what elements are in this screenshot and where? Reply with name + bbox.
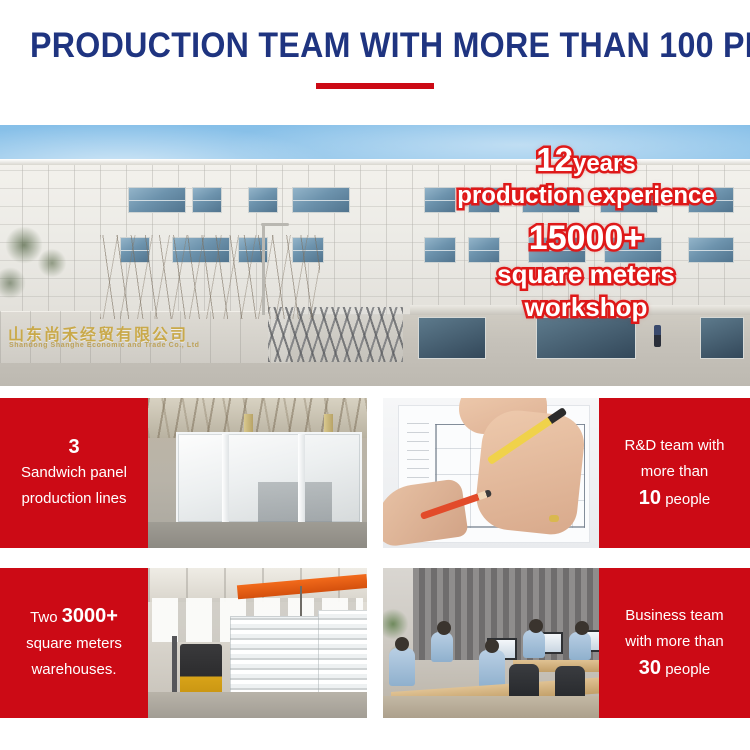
finger-ring: [549, 515, 559, 522]
hero-years-line: 12years: [436, 141, 736, 180]
card-3-number: 3000+: [62, 605, 118, 627]
hand-right: [473, 407, 587, 537]
card-3-photo-warehouse-panels: [148, 568, 367, 718]
window: [128, 187, 186, 213]
hero-area-unit: square meters: [436, 259, 736, 290]
hero-area-number: 15000+: [436, 218, 736, 258]
office-floor: [383, 696, 599, 718]
title-underline-accent: [316, 83, 434, 89]
card-3-line-2: warehouses.: [31, 657, 116, 683]
card-sandwich-panel-lines[interactable]: 3 Sandwich panel production lines: [0, 398, 367, 548]
card-2-text-panel: R&D team with more than 10 people: [599, 398, 750, 548]
card-4-number-suffix: people: [665, 661, 710, 678]
card-4-line-2: with more than: [625, 629, 723, 655]
card-2-line-2: more than: [641, 459, 709, 485]
person-at-entrance: [654, 325, 661, 347]
card-2-number-suffix: people: [665, 491, 710, 508]
card-1-text-panel: 3 Sandwich panel production lines: [0, 398, 148, 548]
page-title: PRODUCTION TEAM WITH MORE THAN 100 PEOPL…: [30, 26, 720, 66]
card-1-photo-factory-container-assembly: [148, 398, 367, 548]
office-worker: [479, 650, 505, 688]
card-4-text-panel: Business team with more than 30 people: [599, 568, 750, 718]
company-name-english: Shandong Shanghe Economic and Trade Co.,…: [9, 342, 200, 349]
hero-workshop-label: workshop: [436, 292, 736, 323]
workshop-floor: [148, 522, 367, 548]
panel-stack: [318, 610, 367, 694]
card-business-team[interactable]: Business team with more than 30 people: [383, 568, 750, 718]
page-header: PRODUCTION TEAM WITH MORE THAN 100 PEOPL…: [0, 0, 750, 125]
card-3-lead: Two: [30, 609, 58, 626]
hero-years-unit: years: [573, 150, 636, 177]
tree: [0, 205, 110, 325]
hero-factory-photo: 山东尚禾经贸有限公司 Shandong Shanghe Economic and…: [0, 125, 750, 386]
stats-card-grid: 3 Sandwich panel production lines: [0, 398, 750, 738]
card-3-line-1: square meters: [26, 631, 122, 657]
bare-branches: [100, 235, 320, 319]
hero-years-number: 12: [536, 141, 573, 178]
card-4-photo-office-staff: [383, 568, 599, 718]
card-4-count-line: 30 people: [639, 655, 710, 683]
building-door: [536, 317, 636, 359]
card-1-line-2: production lines: [21, 486, 126, 512]
hero-overlay-text: 12years production experience 15000+ squ…: [436, 141, 736, 323]
card-2-photo-blueprint-drafting: [383, 398, 599, 548]
building-door: [700, 317, 744, 359]
window: [292, 187, 350, 213]
office-worker: [431, 632, 453, 662]
office-worker: [523, 630, 545, 658]
card-2-number: 10: [639, 487, 661, 509]
card-row-1: 3 Sandwich panel production lines: [0, 398, 750, 548]
card-row-2: Two 3000+ square meters warehouses.: [0, 568, 750, 718]
card-warehouses[interactable]: Two 3000+ square meters warehouses.: [0, 568, 367, 718]
modular-container-frame: [176, 432, 362, 524]
street-lamp: [262, 223, 265, 315]
hero-experience-line: production experience: [436, 182, 736, 210]
window: [192, 187, 222, 213]
card-4-line-1: Business team: [625, 603, 723, 629]
card-2-count-line: 10 people: [639, 485, 710, 513]
card-3-lead-line: Two 3000+: [30, 603, 118, 631]
card-3-text-panel: Two 3000+ square meters warehouses.: [0, 568, 148, 718]
card-1-number: 3: [68, 434, 79, 460]
warehouse-floor: [148, 692, 367, 718]
office-worker: [389, 648, 415, 686]
card-4-number: 30: [639, 657, 661, 679]
card-rd-team[interactable]: R&D team with more than 10 people: [383, 398, 750, 548]
forklift: [180, 644, 222, 696]
panel-stack: [230, 616, 322, 694]
building-door: [418, 317, 486, 359]
office-worker: [569, 632, 591, 660]
card-2-line-1: R&D team with: [624, 433, 724, 459]
card-1-line-1: Sandwich panel: [21, 460, 127, 486]
window: [248, 187, 278, 213]
